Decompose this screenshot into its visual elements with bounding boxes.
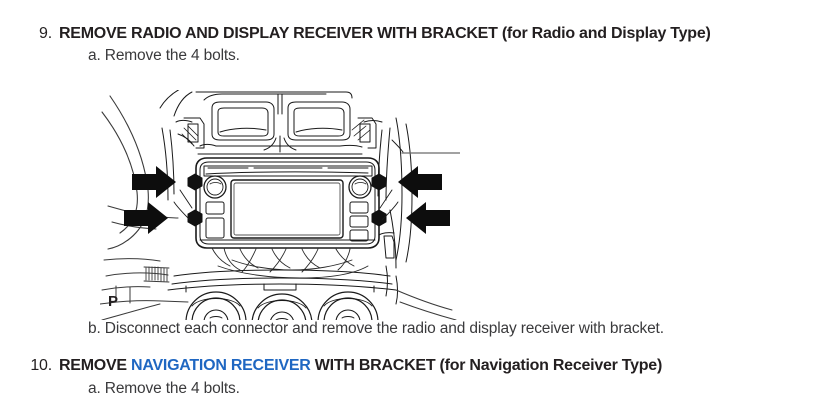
left-button-1 (206, 202, 224, 214)
left-button-2 (206, 218, 224, 238)
bolt-upper-right (372, 174, 386, 190)
upper-right-bolt-arrow (398, 166, 442, 198)
hvac-knob-center (252, 294, 312, 320)
step-9-title: REMOVE RADIO AND DISPLAY RECEIVER WITH B… (59, 25, 711, 43)
document-page: b. Disconnect each connector and remove … (0, 0, 815, 420)
bolt-lower-left (188, 210, 202, 226)
lower-trim-rail (168, 270, 396, 292)
step-9-substep-a: a. Remove the 4 bolts. (88, 47, 240, 65)
right-button-3 (350, 230, 368, 241)
step-10-title-highlight: NAVIGATION RECEIVER (131, 357, 311, 374)
steering-wheel-outline (102, 96, 178, 249)
step-10-substep-a: a. Remove the 4 bolts. (88, 380, 240, 398)
step-9-substep-b: b. Disconnect each connector and remove … (88, 320, 664, 338)
step-10-title-before: REMOVE (59, 357, 131, 374)
step-10-title-after: WITH BRACKET (for Navigation Receiver Ty… (311, 357, 662, 374)
right-button-1 (350, 202, 368, 213)
clipped-top-text-line: b. Disconnect each connector and remove … (88, 0, 788, 4)
lower-right-bolt-arrow (406, 202, 450, 234)
step-10: 10. REMOVE NAVIGATION RECEIVER WITH BRAC… (24, 357, 662, 375)
hvac-knob-right (318, 292, 378, 320)
upper-left-bolt-arrow (132, 166, 176, 198)
step-9: 9. REMOVE RADIO AND DISPLAY RECEIVER WIT… (30, 25, 711, 43)
figure-orientation-label: P (108, 293, 118, 310)
radio-receiver-illustration (100, 90, 460, 320)
step-10-number: 10. (24, 357, 52, 375)
hvac-controls (186, 292, 378, 320)
bolt-upper-left (188, 174, 202, 190)
radio-display-receiver-unit (196, 158, 379, 248)
step-9-number: 9. (30, 25, 52, 43)
lower-left-bolt-arrow (124, 202, 168, 234)
step-10-title: REMOVE NAVIGATION RECEIVER WITH BRACKET … (59, 357, 662, 375)
right-button-2 (350, 216, 368, 227)
hvac-knob-left (186, 292, 246, 320)
wiring-harness (212, 248, 368, 278)
